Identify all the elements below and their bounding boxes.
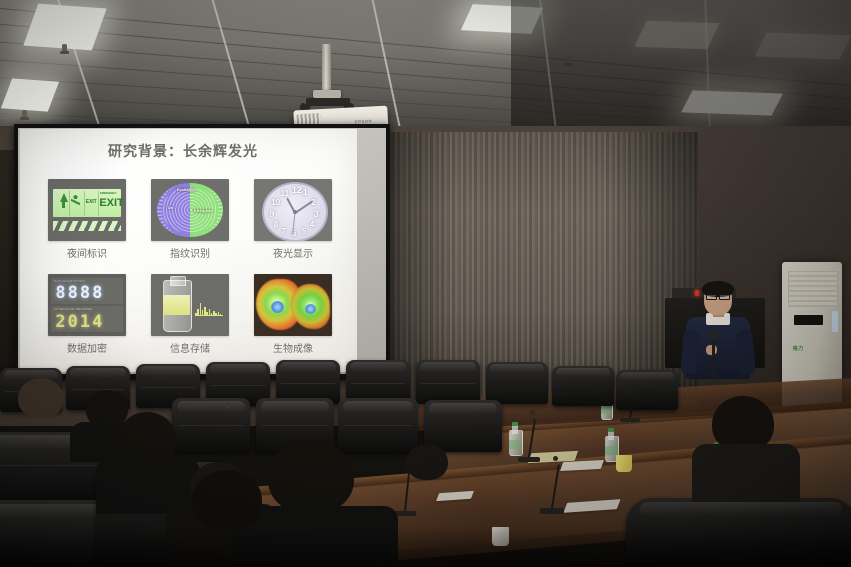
lcd-top-digits: 8888 (55, 283, 104, 303)
handheld-microphone (712, 336, 715, 378)
conference-chair (416, 360, 480, 404)
presenter-glasses (719, 294, 730, 300)
desk-microphone (620, 408, 640, 422)
ac-energy-badge (832, 311, 838, 331)
tile-caption: 指纹识别 (151, 245, 229, 260)
exit-large-text: EXIT (99, 197, 123, 209)
projected-slide: 研究背景：长余辉发光 EXIT EMERGENCY EXIT 夜间标识 (20, 129, 357, 372)
conference-room-photo: EPSON 格力 研究背景：长余辉发光 (0, 0, 851, 567)
slide-tile: 生物成像 (254, 274, 332, 358)
conference-chair (486, 362, 548, 404)
tile-image-information-storage (151, 274, 229, 336)
slide-title-underline (34, 165, 346, 167)
tile-image-fingerprint: Excitation On Afterglow (151, 179, 229, 241)
fingerprint-label-excitation: Excitation (177, 187, 196, 192)
slide-tile: Excitation On Afterglow 指纹识别 (151, 179, 229, 263)
presenter-glasses (706, 294, 717, 300)
slide-tile: DATA ENCRYPTION 8888 AFTERGLOW DECODED 2… (48, 274, 126, 358)
ceiling-light-panel (1, 78, 59, 111)
desk-microphone (518, 446, 540, 462)
tile-image-bioimaging (254, 274, 332, 336)
glasses-bridge (715, 296, 719, 297)
slide-tile: EXIT EMERGENCY EXIT 夜间标识 (48, 179, 126, 263)
equipment-led-indicator (695, 290, 699, 296)
sprinkler-head (62, 44, 67, 53)
spectrum-trace (195, 303, 223, 317)
tile-image-data-encryption: DATA ENCRYPTION 8888 AFTERGLOW DECODED 2… (48, 274, 126, 336)
desk-microphone (540, 496, 564, 514)
sprinkler-head (22, 110, 27, 119)
ac-display-panel (794, 315, 823, 325)
paper-cup (492, 527, 509, 546)
lcd-bottom-digits: 2014 (55, 312, 104, 332)
fingerprint-label-afterglow: Afterglow (194, 208, 212, 213)
desk-microphone (394, 500, 416, 516)
microphone-head (709, 331, 718, 340)
tile-caption: 生物成像 (254, 340, 332, 355)
tile-caption: 数据加密 (48, 340, 126, 355)
conference-chair (338, 398, 418, 452)
tile-image-luminous-clock: 12 1 2 3 4 5 6 7 8 9 10 11 (254, 179, 332, 241)
slide-title: 研究背景：长余辉发光 (108, 141, 258, 161)
paper-cup (616, 455, 632, 472)
slide-tile: 信息存储 (151, 274, 229, 358)
slide-tile: 12 1 2 3 4 5 6 7 8 9 10 11 (254, 179, 332, 263)
tile-caption: 夜光显示 (254, 245, 332, 260)
conference-chair (424, 400, 502, 452)
tile-image-night-signage: EXIT EMERGENCY EXIT (48, 179, 126, 241)
conference-chair (626, 498, 851, 567)
exit-small-text: EXIT (86, 199, 97, 205)
conference-chair (552, 366, 614, 406)
exit-badge-text: EMERGENCY (100, 192, 117, 195)
tile-caption: 信息存储 (151, 340, 229, 355)
fingerprint-label-on: On (168, 205, 174, 210)
conference-chair (172, 398, 250, 452)
tile-caption: 夜间标识 (48, 245, 126, 260)
ac-brand-logo: 格力 (793, 345, 804, 352)
ac-grille (788, 271, 838, 307)
conference-chair (616, 370, 678, 410)
